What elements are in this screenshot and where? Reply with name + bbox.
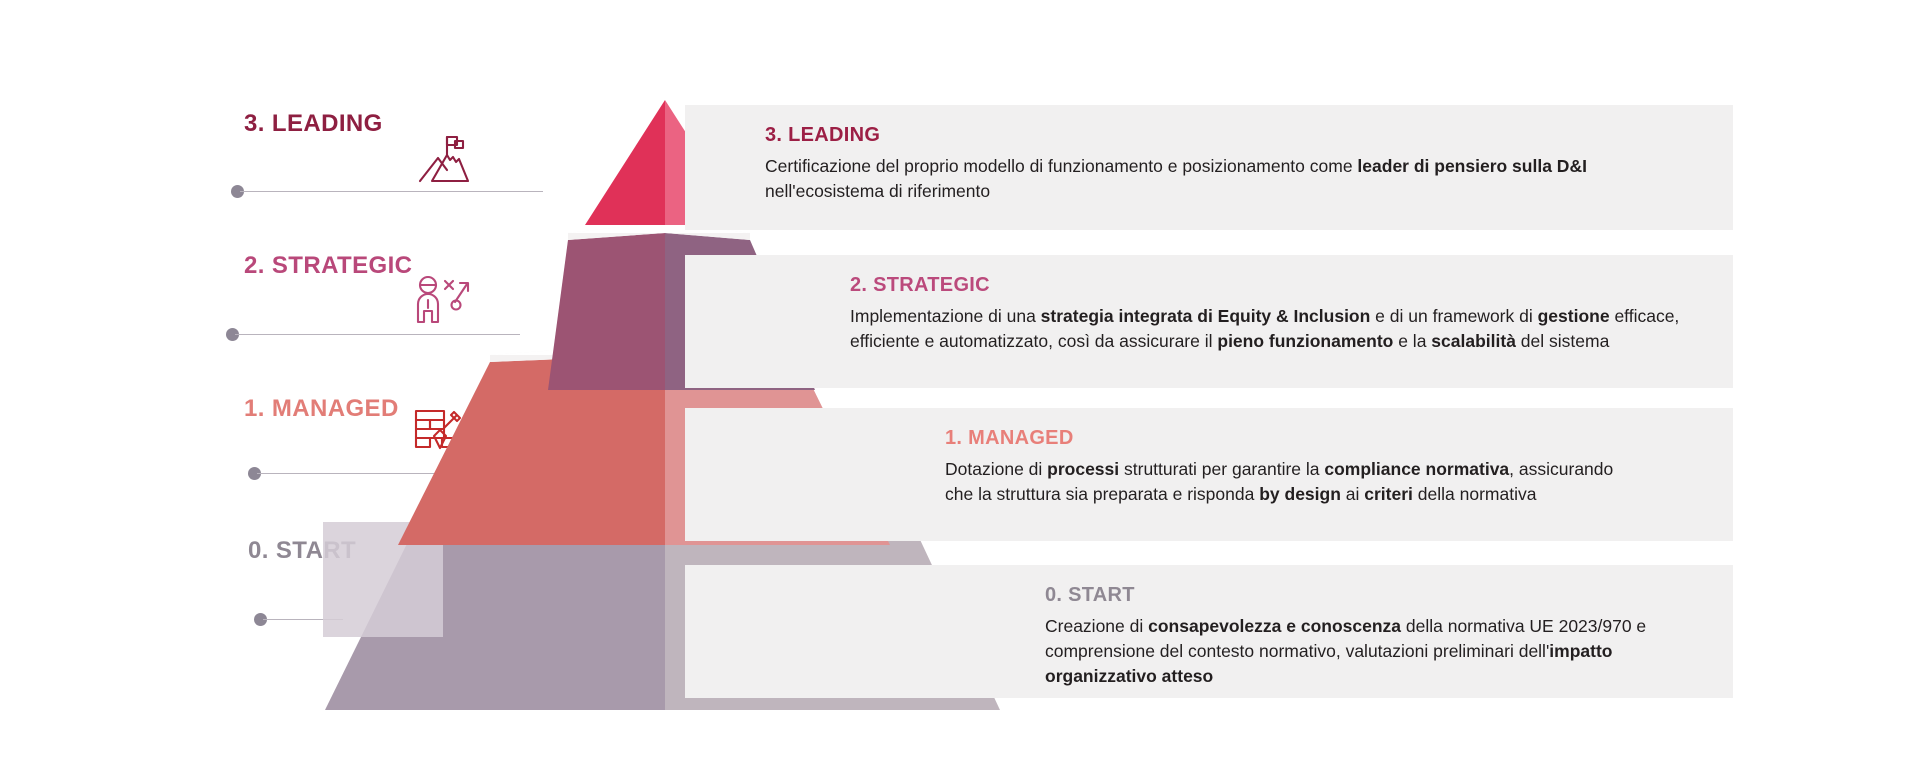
panel-body-strategic: Implementazione di una strategia integra… <box>850 304 1710 354</box>
panel-title-start: 0. START <box>1045 584 1725 607</box>
panel-body-start: Creazione di consapevolezza e conoscenza… <box>1045 614 1725 689</box>
panel-body-managed: Dotazione di processi strutturati per ga… <box>945 457 1625 507</box>
panel-start: 0. START Creazione di consapevolezza e c… <box>685 565 1733 698</box>
panel-title-leading: 3. LEADING <box>765 124 1705 147</box>
panel-title-managed: 1. MANAGED <box>945 427 1625 450</box>
panel-body-leading: Certificazione del proprio modello di fu… <box>765 154 1705 204</box>
panel-title-strategic: 2. STRATEGIC <box>850 274 1710 297</box>
panel-leading: 3. LEADING Certificazione del proprio mo… <box>685 105 1733 230</box>
maturity-pyramid-diagram: 3. LEADING 2. STRATEGIC <box>0 0 1920 780</box>
panel-strategic: 2. STRATEGIC Implementazione di una stra… <box>685 255 1733 388</box>
panel-managed: 1. MANAGED Dotazione di processi struttu… <box>685 408 1733 541</box>
